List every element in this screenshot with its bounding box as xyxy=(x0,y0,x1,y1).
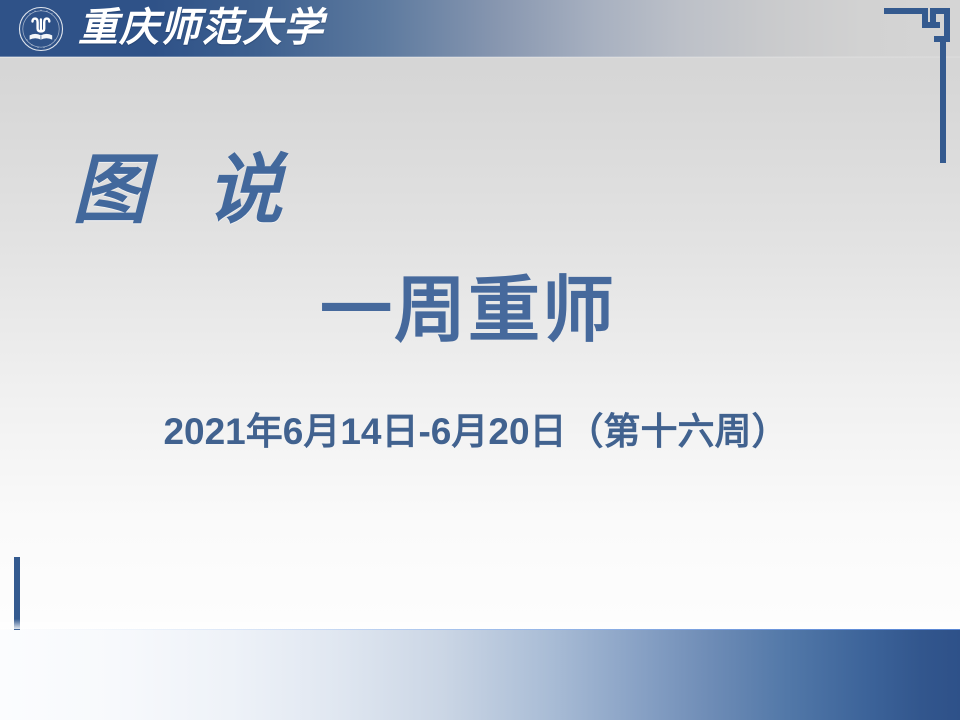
university-name: 重庆师范大学 xyxy=(78,2,338,54)
subtitle-date-wrap: 2021年6月14日-6月20日（第十六周） xyxy=(0,406,960,458)
university-seal-icon xyxy=(18,6,64,52)
subtitle-date: 2021年6月14日-6月20日（第十六周） xyxy=(163,406,788,458)
title-slide: 重庆师范大学 xyxy=(0,0,960,720)
bottom-band xyxy=(0,630,960,720)
bottom-band-soft-top xyxy=(0,619,960,629)
header-band-seam xyxy=(0,56,960,58)
title-line-two: 一周重师 xyxy=(320,268,616,354)
title-line-two-wrap: 一周重师 xyxy=(0,268,960,354)
corner-ornament-top-right-icon xyxy=(884,8,950,163)
title-line-one: 图 说 xyxy=(72,142,332,238)
